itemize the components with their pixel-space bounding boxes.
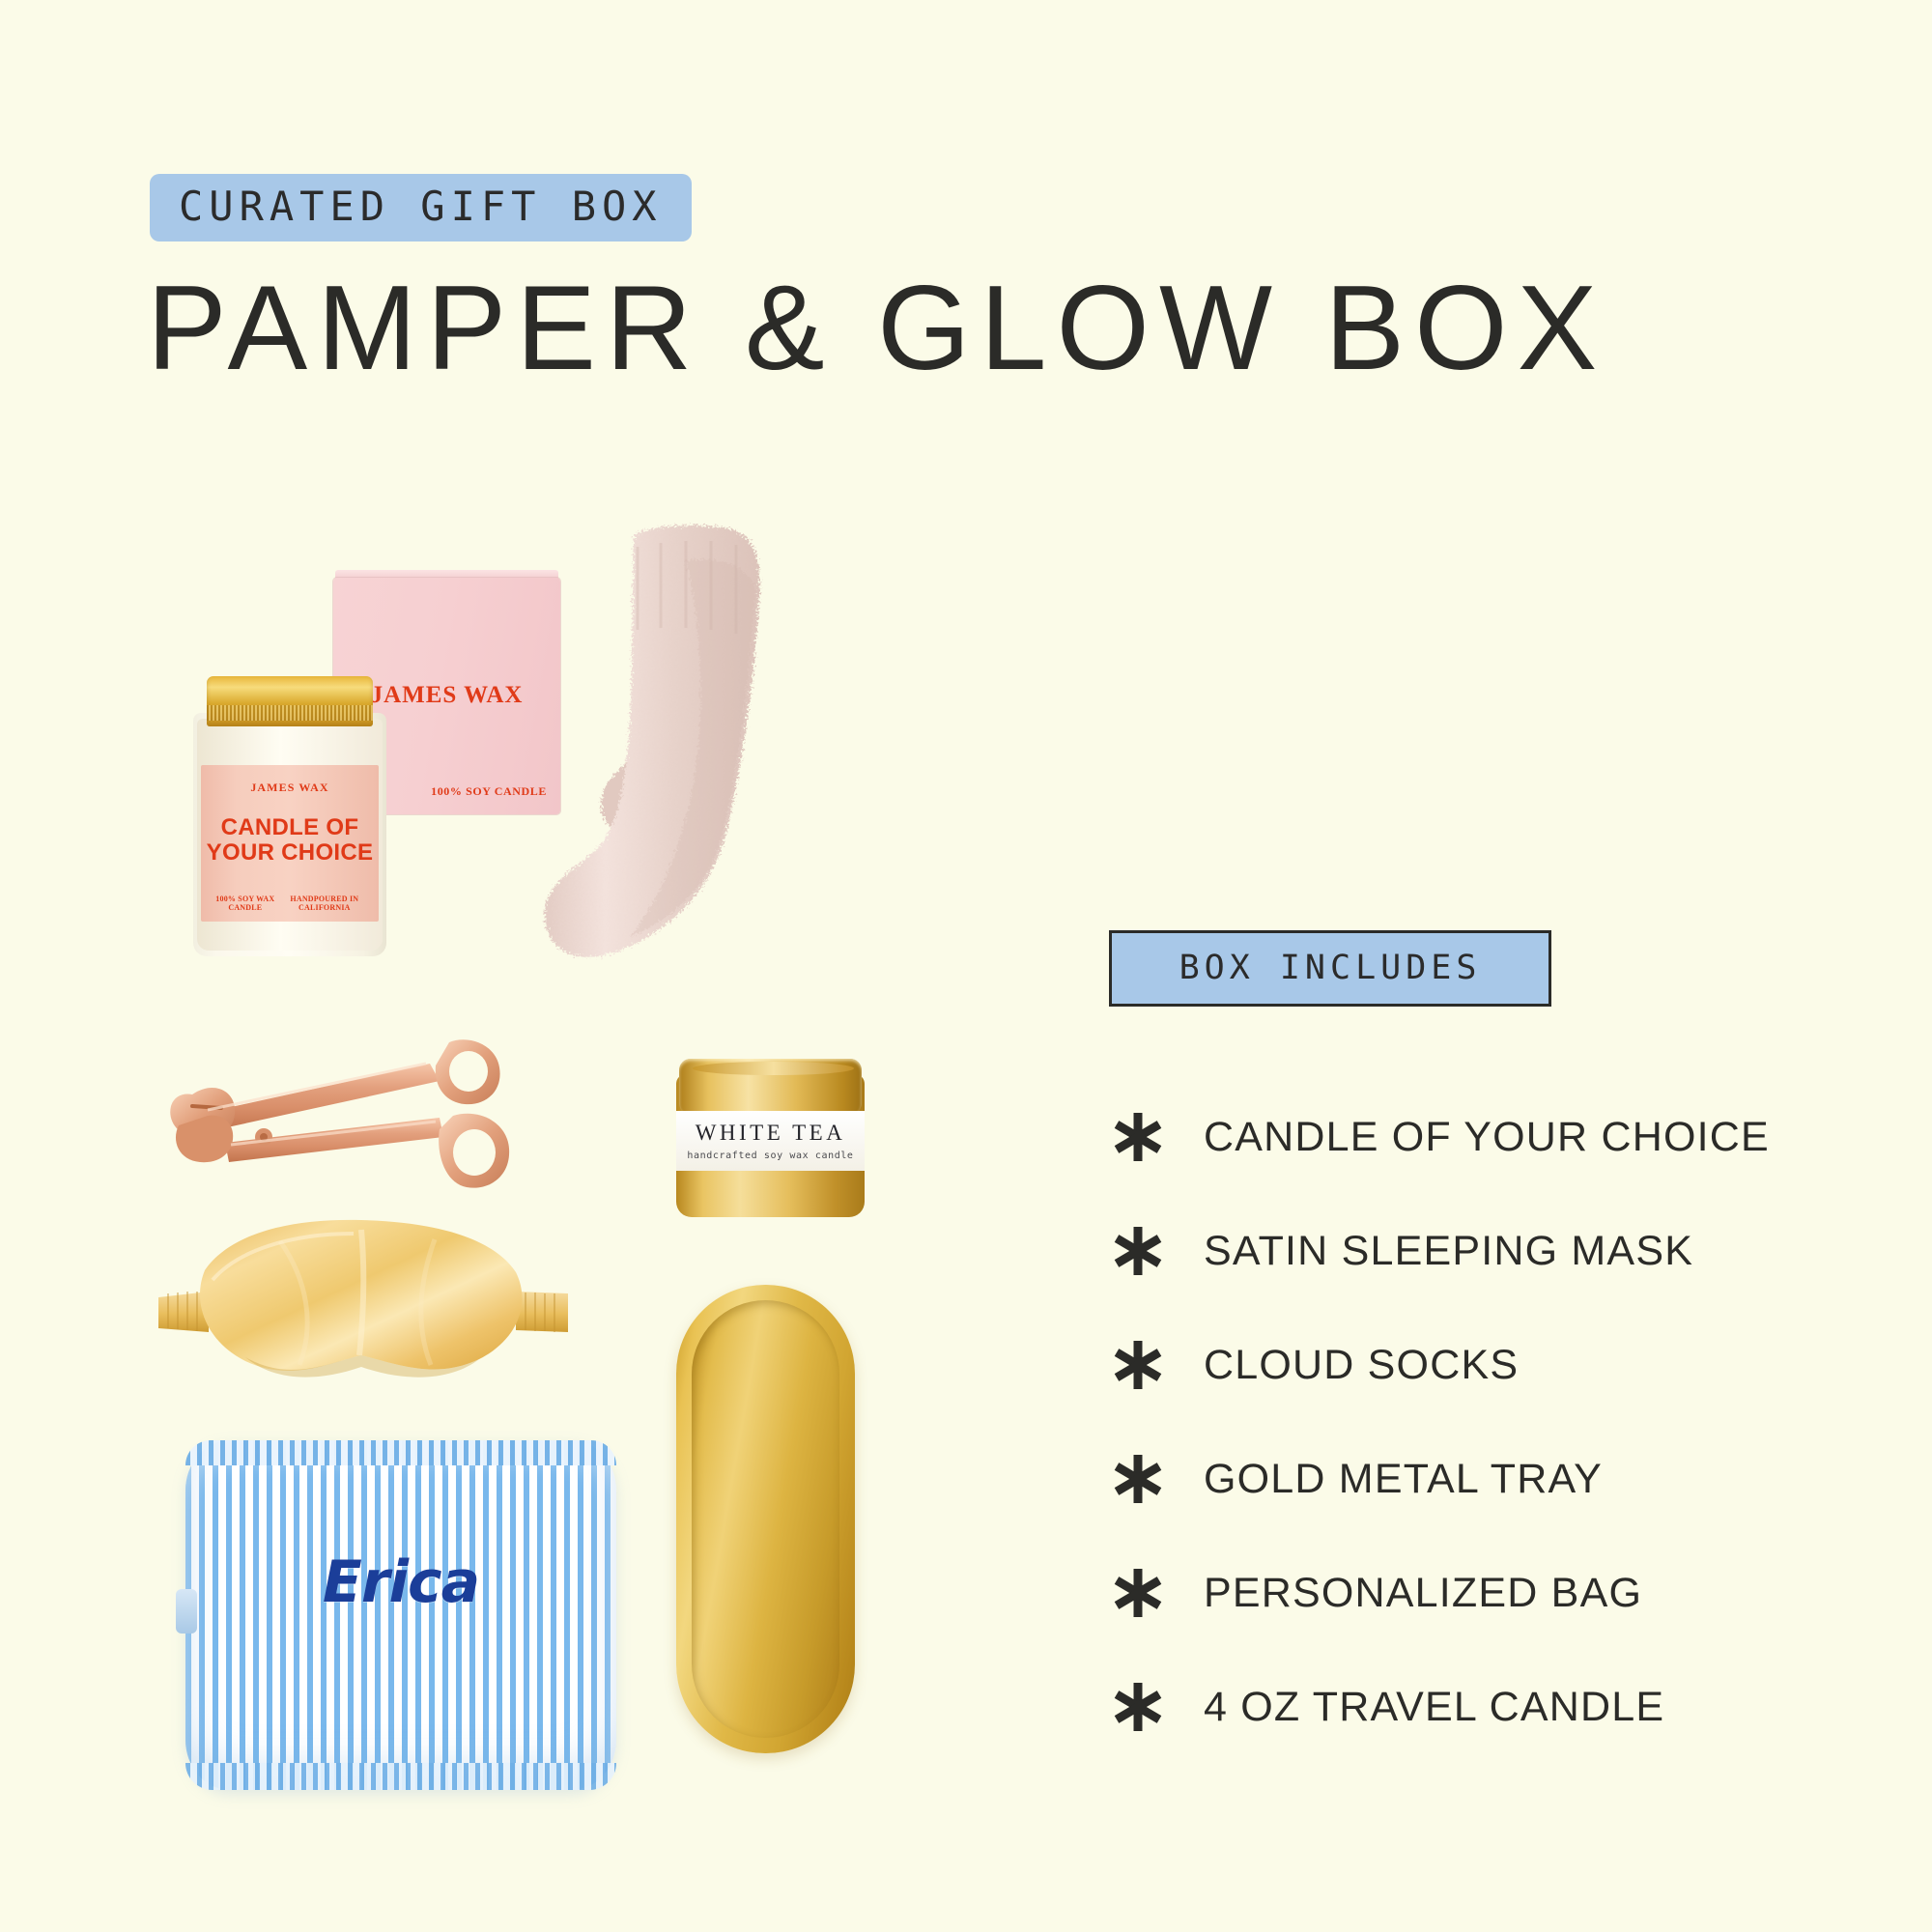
bag-top-piping — [185, 1440, 616, 1465]
tin-lid-top — [693, 1062, 854, 1075]
tin-title: WHITE TEA — [676, 1122, 865, 1144]
asterisk-icon — [1111, 1224, 1204, 1278]
asterisk-icon — [1111, 1452, 1204, 1506]
list-item-label: GOLD METAL TRAY — [1204, 1456, 1603, 1503]
list-item-label: SATIN SLEEPING MASK — [1204, 1228, 1693, 1275]
eyebrow-badge: CURATED GIFT BOX — [150, 174, 692, 241]
jar-lid-ridges — [207, 705, 373, 721]
jar-footer-right: HANDPOURED IN CALIFORNIA — [280, 895, 369, 912]
gold-metal-tray — [676, 1285, 855, 1753]
list-item: SATIN SLEEPING MASK — [1111, 1194, 1884, 1308]
gift-box-footer: 100% SOY CANDLE — [431, 784, 547, 799]
travel-candle-tin: WHITE TEA handcrafted soy wax candle — [676, 1053, 865, 1217]
tray-basin — [692, 1300, 839, 1738]
jar-footer: 100% SOY WAX CANDLE HANDPOURED IN CALIFO… — [201, 895, 379, 912]
satin-sleeping-mask — [145, 1212, 580, 1396]
list-item: CLOUD SOCKS — [1111, 1308, 1884, 1422]
box-includes-badge: BOX INCLUDES — [1109, 930, 1551, 1007]
cloud-socks — [541, 522, 831, 1063]
eye-mask-illustration — [145, 1212, 580, 1396]
list-item-label: CANDLE OF YOUR CHOICE — [1204, 1114, 1770, 1161]
list-item: CANDLE OF YOUR CHOICE — [1111, 1080, 1884, 1194]
jar-brand: JAMES WAX — [201, 781, 379, 795]
bag-monogram: Erica — [174, 1548, 628, 1616]
wick-trimmer-illustration — [150, 1029, 604, 1222]
jar-footer-left: 100% SOY WAX CANDLE — [211, 895, 280, 912]
jar-label: JAMES WAX CANDLE OF YOUR CHOICE 100% SOY… — [201, 765, 379, 922]
asterisk-icon — [1111, 1680, 1204, 1734]
tin-label: WHITE TEA handcrafted soy wax candle — [676, 1111, 865, 1171]
personalized-bag: Erica — [174, 1435, 628, 1811]
tin-subtitle: handcrafted soy wax candle — [676, 1151, 865, 1161]
tin-lid — [679, 1059, 862, 1115]
candle-jar: JAMES WAX CANDLE OF YOUR CHOICE 100% SOY… — [193, 676, 386, 956]
list-item: GOLD METAL TRAY — [1111, 1422, 1884, 1536]
includes-list: CANDLE OF YOUR CHOICE SATIN SLEEPING MAS… — [1111, 1080, 1884, 1764]
asterisk-icon — [1111, 1566, 1204, 1620]
jar-title: CANDLE OF YOUR CHOICE — [201, 815, 379, 867]
poster-canvas: CURATED GIFT BOX PAMPER & GLOW BOX JAMES… — [0, 0, 1932, 1932]
wick-trimmer — [150, 1029, 604, 1222]
bag-bottom-piping — [185, 1763, 616, 1790]
jar-title-line2: YOUR CHOICE — [201, 840, 379, 866]
page-title: PAMPER & GLOW BOX — [147, 263, 1606, 394]
asterisk-icon — [1111, 1338, 1204, 1392]
list-item-label: 4 OZ TRAVEL CANDLE — [1204, 1684, 1664, 1731]
list-item: 4 OZ TRAVEL CANDLE — [1111, 1650, 1884, 1764]
asterisk-icon — [1111, 1110, 1204, 1164]
list-item: PERSONALIZED BAG — [1111, 1536, 1884, 1650]
list-item-label: CLOUD SOCKS — [1204, 1342, 1519, 1389]
jar-title-line1: CANDLE OF — [201, 815, 379, 840]
list-item-label: PERSONALIZED BAG — [1204, 1570, 1642, 1617]
socks-illustration — [541, 522, 831, 1063]
